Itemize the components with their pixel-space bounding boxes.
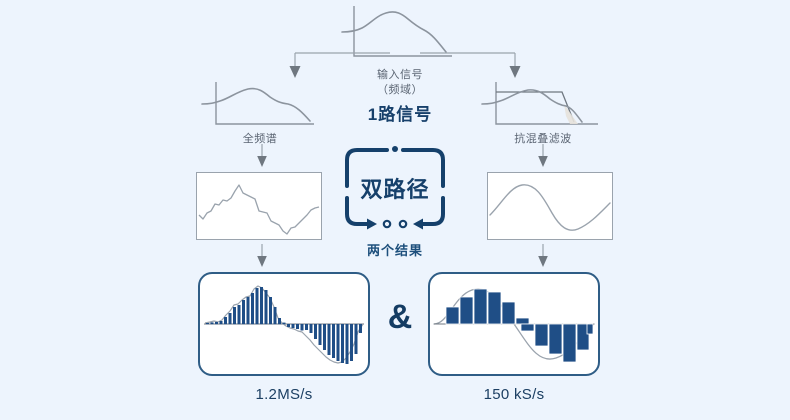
ampersand-conjunction: & — [370, 300, 430, 334]
split-connector-bus — [285, 44, 525, 82]
two-results-label: 两个结果 — [341, 240, 449, 259]
dense-bar-waveform-icon — [200, 274, 368, 374]
low-rate-label: 150 kS/s — [428, 386, 600, 403]
diagram-canvas: 输入信号 （频域） 1路信号 全频谱 — [0, 0, 790, 420]
full-spectrum-curve-icon — [200, 78, 320, 134]
sparse-bar-sine-icon — [430, 274, 598, 374]
noisy-waveform-box — [196, 172, 322, 240]
right-arrow-down-1 — [536, 144, 550, 168]
input-signal-label-line2: （频域） — [340, 81, 460, 97]
left-arrow-down-1 — [255, 144, 269, 168]
dual-path-badge: 双路径 — [341, 146, 449, 238]
right-arrow-down-2 — [536, 244, 550, 268]
antialias-filter-curve-icon — [478, 78, 608, 134]
dual-path-label: 双路径 — [341, 172, 449, 204]
low-rate-result-panel — [428, 272, 600, 376]
sine-waveform-box — [487, 172, 613, 240]
left-arrow-down-2 — [255, 244, 269, 268]
high-rate-label: 1.2MS/s — [198, 386, 370, 403]
one-channel-signal-label: 1路信号 — [340, 100, 460, 125]
high-rate-result-panel — [198, 272, 370, 376]
